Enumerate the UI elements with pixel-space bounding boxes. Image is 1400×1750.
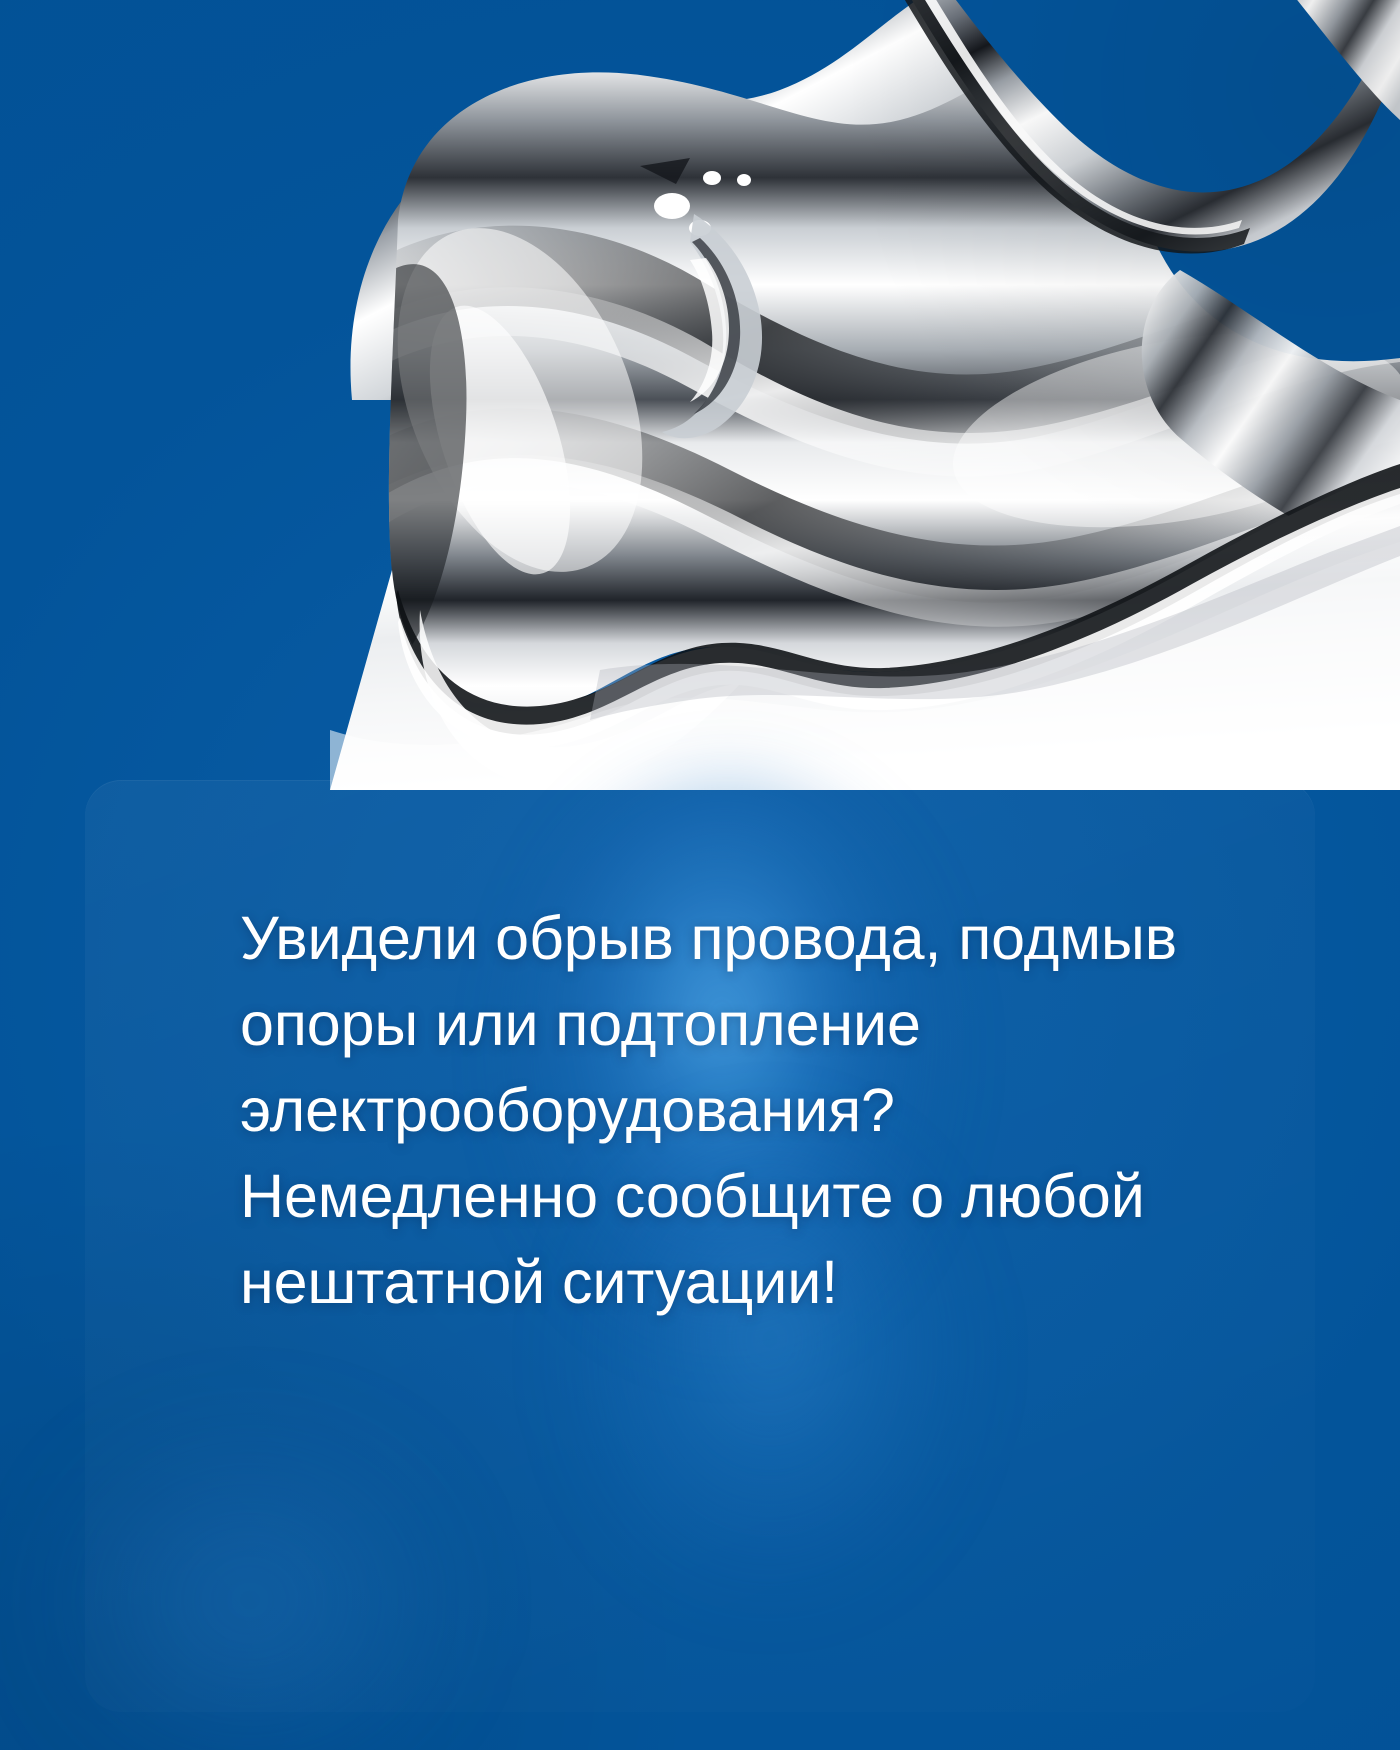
social-card-canvas: Увидели обрыв провода, подмыв опоры или … — [0, 0, 1400, 1750]
headline-text: Увидели обрыв провода, подмыв опоры или … — [240, 895, 1180, 1325]
background-gradient — [0, 0, 1400, 1750]
